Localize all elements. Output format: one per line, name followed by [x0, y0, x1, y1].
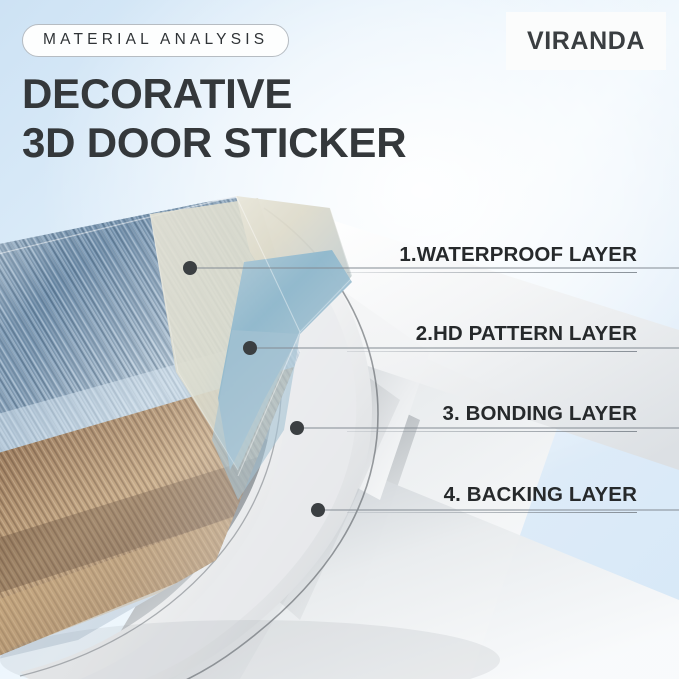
material-analysis-badge: MATERIAL ANALYSIS — [22, 24, 289, 57]
callout-dot-3 — [290, 421, 304, 435]
callout-4: 4. BACKING LAYER — [347, 483, 679, 513]
callout-rule-4 — [347, 512, 637, 513]
page-title-line-1: DECORATIVE — [22, 70, 292, 117]
callout-2: 2.HD PATTERN LAYER — [347, 322, 679, 352]
callout-label-3: 3. BONDING LAYER — [347, 402, 637, 431]
brand-logo-text: VIRANDA — [527, 27, 645, 56]
callout-rule-1 — [347, 272, 637, 273]
callout-rule-2 — [347, 351, 637, 352]
brand-logo: VIRANDA — [506, 12, 666, 70]
callout-dot-1 — [183, 261, 197, 275]
infographic-page: MATERIAL ANALYSIS DECORATIVE 3D DOOR STI… — [0, 0, 679, 679]
callout-dot-2 — [243, 341, 257, 355]
callout-dot-4 — [311, 503, 325, 517]
callout-rule-3 — [347, 431, 637, 432]
callout-1: 1.WATERPROOF LAYER — [347, 243, 679, 273]
page-title: DECORATIVE 3D DOOR STICKER — [22, 70, 406, 167]
callout-label-1: 1.WATERPROOF LAYER — [347, 243, 637, 272]
callout-label-4: 4. BACKING LAYER — [347, 483, 637, 512]
callout-3: 3. BONDING LAYER — [347, 402, 679, 432]
callout-label-2: 2.HD PATTERN LAYER — [347, 322, 637, 351]
page-title-line-2: 3D DOOR STICKER — [22, 119, 406, 168]
